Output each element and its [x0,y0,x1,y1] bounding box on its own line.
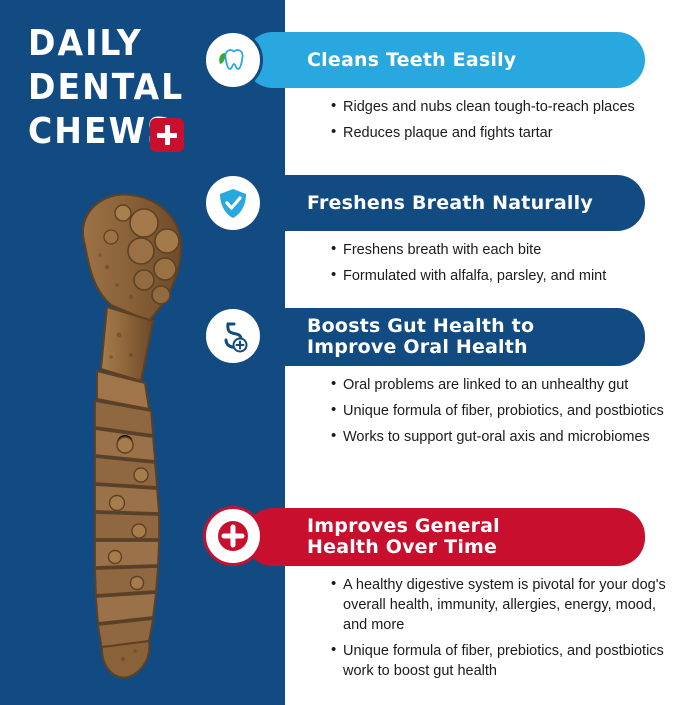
feature-general-health: Improves General Health Over Time A heal… [285,508,679,687]
list-item: A healthy digestive system is pivotal fo… [331,575,667,635]
feature-3-heading: Boosts Gut Health to Improve Oral Health [307,316,534,358]
list-item: Unique formula of fiber, prebiotics, and… [331,641,667,681]
stomach-plus-icon [203,306,263,366]
infographic-page: DAILY DENTAL CHEWS [0,0,679,705]
medical-cross-circle-icon [203,506,263,566]
features-panel: Cleans Teeth Easily Ridges and nubs clea… [285,0,679,705]
feature-2-heading-pill: Freshens Breath Naturally [245,175,645,231]
medical-cross-icon [150,118,184,152]
feature-2-heading: Freshens Breath Naturally [307,193,593,214]
feature-3-heading-line-2: Improve Oral Health [307,337,534,358]
list-item: Ridges and nubs clean tough-to-reach pla… [331,97,667,117]
feature-1-bullets: Ridges and nubs clean tough-to-reach pla… [285,97,679,143]
feature-1-heading-pill: Cleans Teeth Easily [245,32,645,88]
feature-freshens-breath: Freshens Breath Naturally Freshens breat… [285,175,679,292]
feature-4-heading-line-1: Improves General [307,516,500,537]
feature-gut-health: Boosts Gut Health to Improve Oral Health… [285,308,679,453]
feature-3-heading-line-1: Boosts Gut Health to [307,316,534,337]
dental-chew-illustration [45,185,235,695]
list-item: Unique formula of fiber, probiotics, and… [331,401,667,421]
feature-cleans-teeth: Cleans Teeth Easily Ridges and nubs clea… [285,32,679,149]
feature-4-heading-pill: Improves General Health Over Time [245,508,645,566]
list-item: Formulated with alfalfa, parsley, and mi… [331,266,667,286]
feature-4-heading-line-2: Health Over Time [307,537,500,558]
list-item: Freshens breath with each bite [331,240,667,260]
list-item: Works to support gut-oral axis and micro… [331,427,667,447]
shield-check-icon [203,173,263,233]
list-item: Oral problems are linked to an unhealthy… [331,375,667,395]
tooth-leaf-icon [203,30,263,90]
feature-4-bullets: A healthy digestive system is pivotal fo… [285,575,679,681]
feature-3-bullets: Oral problems are linked to an unhealthy… [285,375,679,447]
list-item: Reduces plaque and fights tartar [331,123,667,143]
feature-4-heading: Improves General Health Over Time [307,516,500,558]
feature-2-bullets: Freshens breath with each bite Formulate… [285,240,679,286]
feature-1-heading: Cleans Teeth Easily [307,50,516,71]
feature-3-heading-pill: Boosts Gut Health to Improve Oral Health [245,308,645,366]
